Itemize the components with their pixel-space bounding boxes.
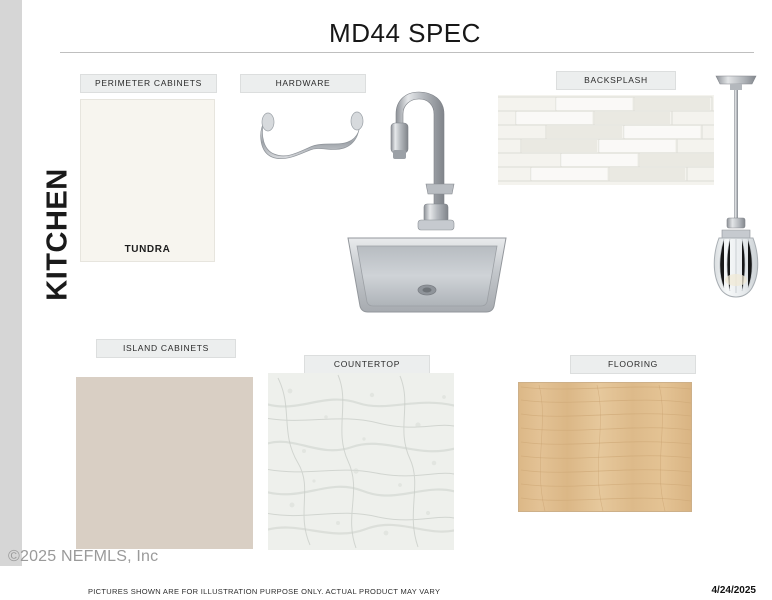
caption-backsplash: BACKSPLASH [556,71,676,90]
swatch-countertop [268,373,454,550]
swatch-perimeter-cabinets [80,99,215,262]
quartz-pattern [268,373,454,550]
disclaimer-text: PICTURES SHOWN ARE FOR ILLUSTRATION PURP… [88,587,440,596]
perimeter-cabinets-color-name: TUNDRA [80,244,215,255]
page-title: MD44 SPEC [60,18,750,49]
sink-icon [344,232,510,314]
caption-perimeter-cabinets: PERIMETER CABINETS [80,74,217,93]
cabinet-pull-icon [258,110,368,172]
room-label: KITCHEN [42,145,75,325]
swatch-backsplash [498,95,714,185]
faucet-icon [372,86,460,236]
caption-countertop: COUNTERTOP [304,355,430,374]
tile-pattern [498,95,714,185]
document-date: 4/24/2025 [712,585,757,596]
caption-hardware: HARDWARE [240,74,366,93]
caption-flooring: FLOORING [570,355,696,374]
caption-island-cabinets: ISLAND CABINETS [96,339,236,358]
room-rail: KITCHEN [0,0,22,566]
swatch-island-cabinets [76,377,253,549]
title-divider [60,52,754,53]
mls-watermark: ©2025 NEFMLS, Inc [8,548,158,566]
pendant-light-icon [700,62,772,332]
spec-board: KITCHEN MD44 SPEC PERIMETER CABINETS TUN… [0,0,772,600]
swatch-flooring [518,382,692,512]
wood-grain-pattern [519,383,693,513]
